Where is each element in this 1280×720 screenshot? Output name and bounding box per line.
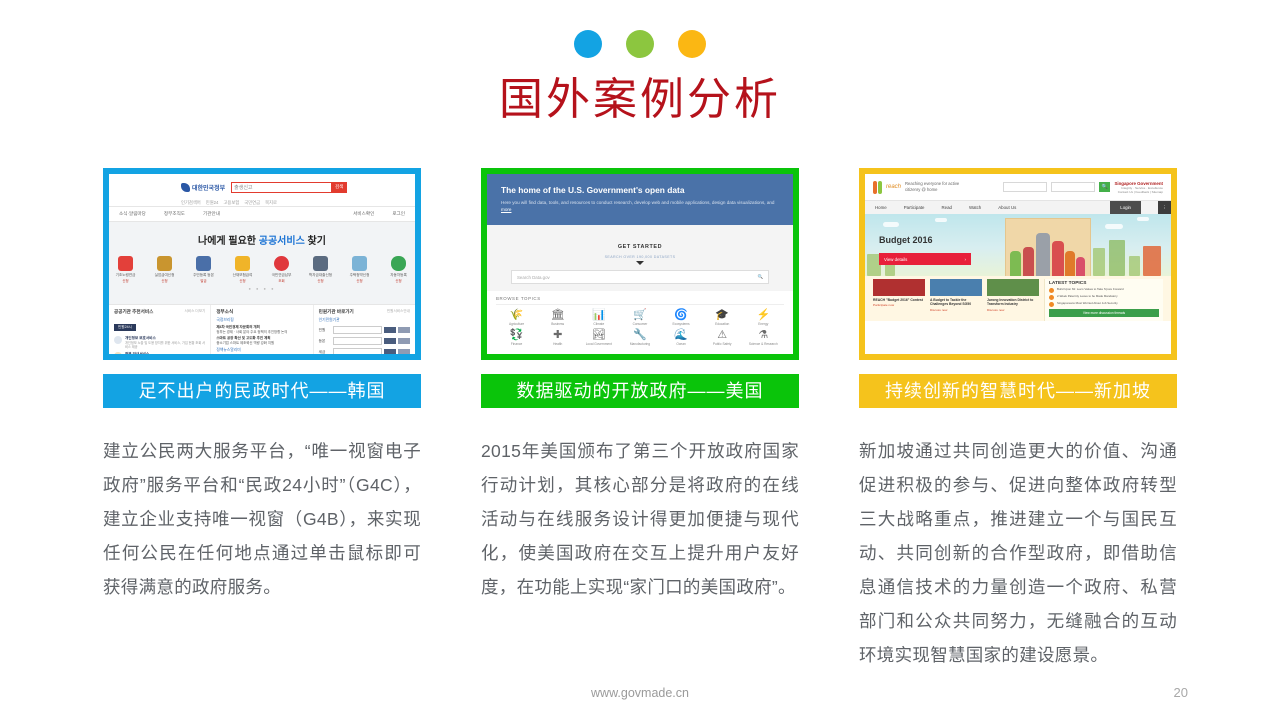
kr-panel-title: 공공기관 추천서비스 [114,309,153,315]
kr-service-item[interactable]: 실업급여신청 신청 [151,256,179,283]
kr-agency-apply-button[interactable] [384,327,396,333]
kr-panel-button[interactable]: 민원서비스안내 [387,309,410,315]
kr-news-desc: 중소기업 스마트 제조혁신 역량 강화 지원 [216,341,274,345]
ocean-icon: 🌊 [661,329,702,342]
local-government-icon: 🏞 [578,329,619,342]
us-topic-cell[interactable]: ⚠Public Safety [702,329,743,346]
consumer-icon: 🛒 [619,309,660,322]
kr-panel-more-link[interactable]: 서비스 더보기 [184,309,205,315]
datagov-mock: The home of the U.S. Government's open d… [487,174,793,354]
us-topic-label: Business [537,322,578,326]
sg-view-threads-button[interactable]: View more discussion threads [1049,309,1159,317]
kr-nav-item-right[interactable]: 서비스확인 [353,211,374,217]
sg-login-button[interactable]: Login [1110,201,1141,214]
us-search-placeholder: Search Data.gov [517,275,550,280]
sg-gov-sub: Integrity · Service · Excellence [1114,186,1163,190]
us-topic-label: Local Government [578,342,619,346]
kr-agency-view-button[interactable] [398,349,410,355]
slide: 国外案例分析 대한민국정부 검색 [0,0,1280,720]
kr-nav-item-right[interactable]: 로그인 [392,211,405,217]
more-menu-icon[interactable]: ⋮ [1158,201,1171,214]
chevron-right-icon: › [965,257,966,262]
sg-card-thumb [987,279,1039,296]
sg-nav-item-about[interactable]: About Us [998,205,1016,210]
sg-hero-title: Budget 2016 [879,235,933,245]
sg-latest-topics-panel: LATEST TOPICS Build Upon Mr. Lee's Value… [1044,279,1163,321]
us-topic-cell[interactable]: 📊Climate [578,309,619,326]
kr-service-action: 신청 [346,278,374,283]
list-item[interactable]: 정부 안내서비스 자격 · 정책 및 복지제도 안내와 각종 신청 방법을 한눈… [114,352,205,360]
us-topic-cell[interactable]: ⚡Energy [743,309,784,326]
bullet-icon [1049,288,1054,293]
sg-view-details-label: View details [884,257,907,262]
sg-latest-title: LATEST TOPICS [1049,281,1159,286]
us-topic-label: Consumer [619,322,660,326]
car-icon [391,256,406,271]
us-topics-panel: BROWSE TOPICS 🌾Agriculture 🏛Business 📊Cl… [487,291,793,355]
kr-agency-apply-button[interactable] [384,338,396,344]
list-item[interactable]: 개인정보 보호서비스 개인정보 노출 및 도용 방지를 위한 서비스, 가입 현… [114,336,205,349]
body-text-korea: 建立公民两大服务平台，“唯一视窗电子政府”服务平台和“民政24小时”（G4C），… [103,434,421,604]
kr-news-title: 청년 일자리대책 발표 [216,355,307,360]
kr-panel-title: 정부소식 [216,309,233,315]
helmet-icon [235,256,250,271]
avatar-icon [114,352,122,360]
kr-search-input[interactable] [231,182,331,193]
us-topic-label: Science & Research [743,342,784,346]
kr-nav-item[interactable]: 기관안내 [203,211,220,217]
us-topic-label: Agriculture [496,322,537,326]
screenshot-frame-singapore[interactable]: reach Reaching everyone for active citiz… [859,168,1177,360]
sg-tagline: Reaching everyone for active citizenry @… [905,181,967,193]
screenshot-frame-usa[interactable]: The home of the U.S. Government's open d… [481,168,799,360]
climate-icon: 📊 [578,309,619,322]
us-topic-label: Ocean [661,342,702,346]
coin-icon [274,256,289,271]
kr-news-subtitle: 정책뉴스알리미 [216,348,307,353]
list-item[interactable]: 2-Week Paternity Leave to be Made Mandat… [1049,295,1159,300]
chevron-down-icon [636,261,644,265]
briefcase-icon [157,256,172,271]
kr-agency-label: 민원 [319,328,331,333]
kr-panel-recommended: 공공기관 추천서비스 서비스 더보기 민원24시 개인정보 보호서비스 개인정보… [109,305,211,360]
kr-agency-select[interactable] [333,337,382,345]
kr-service-action: 신청 [307,278,335,283]
us-topic-label: Energy [743,322,784,326]
sg-cards-row: REACH "Budget 2016" Contest Participate … [865,276,1171,321]
us-topic-cell[interactable]: 🎓Education [702,309,743,326]
caption-korea: 足不出户的民政时代——韩国 [103,374,421,408]
kr-agency-select[interactable] [333,326,382,334]
us-topic-label: Education [702,322,743,326]
kr-item-text: 정부 안내서비스 자격 · 정책 및 복지제도 안내와 각종 신청 방법을 한눈… [125,352,205,360]
sg-card-title: A Budget to Tackle the Challenges Beyond… [930,298,982,307]
sg-search-input[interactable] [1003,182,1047,192]
kr-agency-label: 세금 [319,350,331,355]
us-topic-label: Climate [578,322,619,326]
sg-gov-title: Singapore Government [1114,181,1163,186]
sg-latest-item: 2-Week Paternity Leave to be Made Mandat… [1057,295,1118,299]
sg-header: reach Reaching everyone for active citiz… [865,174,1171,200]
sg-latest-item: Singaporeans Most Worried About Job Secu… [1057,302,1118,306]
us-browse-topics-label: BROWSE TOPICS [496,296,784,305]
sg-nav-item-participate[interactable]: Participate [904,205,925,210]
list-item[interactable]: Build Upon Mr. Lee's Values to Take S'po… [1049,288,1159,293]
us-paragraph-text: Here you will find data, tools, and reso… [501,200,775,205]
us-topic-cell[interactable]: 🔧Manufacturing [619,329,660,346]
agriculture-icon: 🌾 [496,309,537,322]
kr-hero-text-1: 나에게 필요한 [198,236,259,247]
us-paragraph: Here you will find data, tools, and reso… [501,199,779,213]
kr-service-action: 신청 [229,278,257,283]
us-get-started-label: GET STARTED [618,244,662,250]
kr-service-item[interactable]: 국민연금납부 조회 [268,256,296,283]
kr-service-item[interactable]: 산재보험급여 신청 [229,256,257,283]
kr-service-action: 조회 [268,278,296,283]
ecosystems-icon: 🌀 [661,309,702,322]
sg-card-link[interactable]: Discuss now [930,308,982,312]
kr-agency-view-button[interactable] [398,327,410,333]
avatar-icon [114,336,122,344]
energy-icon: ⚡ [743,309,784,322]
sg-card-thumb [873,279,925,296]
blue-dot [574,30,602,58]
kr-news-item[interactable]: 제4차 국민경제 자문회의 개최 정부는 경제 · 사회 분야 주요 정책의 추… [216,325,307,334]
case-columns: 대한민국정부 검색 인기검색어 민원24 고용보험 국민연금 복지로 [0,168,1280,672]
kr-item-desc: 개인정보 노출 및 도용 방지를 위한 서비스, 가입 현황 조회 서비스 제공 [125,341,205,349]
sg-card[interactable]: REACH "Budget 2016" Contest Participate … [873,279,925,321]
sg-card-title: Jurong Innovation District to Transform … [987,298,1039,307]
sg-family-illustration [1005,218,1091,276]
kr-nav-item[interactable]: 정부조직도 [164,211,185,217]
search-icon[interactable]: 🔍 [1099,182,1110,192]
page-number: 20 [1174,685,1188,700]
kr-group-label: 지역민원기관 [319,359,410,360]
sg-view-details-button[interactable]: View details › [879,253,971,265]
caption-usa: 数据驱动的开放政府——美国 [481,374,799,408]
kr-hero-text-3: 찾기 [305,236,326,247]
green-dot [626,30,654,58]
kr-group-label: 인기민원기관 [319,318,410,323]
sg-latest-item: Build Upon Mr. Lee's Values to Take S'po… [1057,288,1124,292]
body-text-singapore: 新加坡通过共同创造更大的价值、沟通促进积极的参与、促进向整体政府转型三大战略重点… [859,434,1177,672]
caption-singapore: 持续创新的智慧时代——新加坡 [859,374,1177,408]
kr-agency-label: 등본 [319,339,331,344]
us-topic-cell[interactable]: 🌾Agriculture [496,309,537,326]
kr-panel-header: 정부소식 [216,309,307,315]
kr-hero: 나에게 필요한 공공서비스 찾기 기초노령연금 신청 실업급여신청 [109,222,415,304]
us-topic-label: Health [537,342,578,346]
kr-logo: 대한민국정부 [181,183,225,192]
kr-news-item[interactable]: 청년 일자리대책 발표 청년 취업지원금 신설 및 중소기업 지원 확대 [216,355,307,360]
case-column-usa: The home of the U.S. Government's open d… [481,168,799,672]
health-icon: ✚ [537,329,578,342]
kr-service-item[interactable]: 주민등록 등본 발급 [190,256,218,283]
sg-brand: reach Reaching everyone for active citiz… [873,181,967,194]
sg-hero-block: Budget 2016 View details › [879,230,971,265]
kr-keyword[interactable]: 복지로 [265,200,277,206]
kr-service-action: 신청 [385,278,413,283]
body-text-usa: 2015年美国颁布了第三个开放政府国家行动计划，其核心部分是将政府的在线活动与在… [481,434,799,604]
us-hero: The home of the U.S. Government's open d… [487,174,793,225]
us-get-started-sub: SEARCH OVER 190,000 DATASETS [487,255,793,259]
us-topic-cell[interactable]: 🏛Business [537,309,578,326]
us-topic-cell[interactable]: 🛒Consumer [619,309,660,326]
korea-gov-portal-mock: 대한민국정부 검색 인기검색어 민원24 고용보험 국민연금 복지로 [109,174,415,354]
public-safety-icon: ⚠ [702,329,743,342]
kr-service-item[interactable]: 자동차등록 신청 [385,256,413,283]
sg-hero: Budget 2016 View details › [865,214,1171,276]
kr-nav: 소식·알림마당 정부조직도 기관안내 서비스확인 로그인 [109,206,415,222]
kr-service-item[interactable]: 주택청약신청 신청 [346,256,374,283]
us-topic-cell[interactable]: 🌀Ecosystems [661,309,702,326]
kr-agency-row: 세금 [319,348,410,356]
manufacturing-icon: 🔧 [619,329,660,342]
sg-nav: Home Participate Read Watch About Us Log… [865,200,1171,214]
kr-service-icon-row: 기초노령연금 신청 실업급여신청 신청 주민등록 등본 [109,256,415,283]
sg-nav-item-home[interactable]: Home [875,205,887,210]
kr-service-action: 신청 [151,278,179,283]
sg-gov-links[interactable]: Contact Us | Feedback | Sitemap [1114,190,1163,194]
sg-logo-text: reach [886,184,901,190]
kr-hero-heading: 나에게 필요한 공공서비스 찾기 [109,222,415,247]
kr-keyword[interactable]: 인기검색어 [181,200,201,206]
health-icon [118,256,133,271]
kr-hero-text-highlight: 공공서비스 [259,236,305,247]
kr-item-title: 정부 안내서비스 [125,352,205,357]
kr-agency-row: 민원 [319,326,410,334]
kr-header: 대한민국정부 검색 [109,174,415,200]
kr-keyword[interactable]: 국민연금 [244,200,260,206]
kr-item-desc: 자격 · 정책 및 복지제도 안내와 각종 신청 방법을 한눈에 확인 가능 [125,357,205,360]
business-icon: 🏛 [537,309,578,322]
screenshot-frame-korea[interactable]: 대한민국정부 검색 인기검색어 민원24 고용보험 국민연금 복지로 [103,168,421,360]
footer-url: www.govmade.cn [0,686,1280,700]
kr-panel-badge: 민원24시 [114,324,136,331]
reach-logo-icon [873,181,882,194]
kr-news-item[interactable]: 스마트 공장 확산 및 고도화 추진 계획 중소기업 스마트 제조혁신 역량 강… [216,336,307,345]
kr-service-item[interactable]: 기초노령연금 신청 [112,256,140,283]
sg-card-link[interactable]: Participate now [873,303,925,307]
kr-logo-mark-icon [181,183,190,192]
us-topic-label: Ecosystems [661,322,702,326]
sg-card[interactable]: A Budget to Tackle the Challenges Beyond… [930,279,982,321]
sg-header-right: 🔍 Singapore Government Integrity · Servi… [1003,181,1163,194]
sg-card-title: REACH "Budget 2016" Contest [873,298,925,302]
science-research-icon: ⚗ [743,329,784,342]
building-icon [196,256,211,271]
kr-logo-text: 대한민국정부 [192,183,225,192]
kr-panel-row: 공공기관 추천서비스 서비스 더보기 민원24시 개인정보 보호서비스 개인정보… [109,304,415,360]
sg-card-link[interactable]: Discuss now [987,308,1039,312]
bullet-icon [1049,295,1054,300]
kr-news-desc: 정부는 경제 · 사회 분야 주요 정책의 추진방향 논의 [216,330,287,334]
sg-nav-item-read[interactable]: Read [941,205,952,210]
search-icon[interactable]: 🔍 [758,274,763,280]
reach-sg-mock: reach Reaching everyone for active citiz… [865,174,1171,354]
case-column-korea: 대한민국정부 검색 인기검색어 민원24 고용보험 국민연금 복지로 [103,168,421,672]
kr-search-group[interactable]: 검색 [231,182,347,193]
kr-search-button[interactable]: 검색 [331,182,347,193]
us-topic-label: Public Safety [702,342,743,346]
sg-nav-item-watch[interactable]: Watch [969,205,981,210]
kr-carousel-dots[interactable]: ● ● ● ● [109,286,415,291]
kr-keyword[interactable]: 민원24 [206,200,219,206]
kr-panel-header: 공공기관 추천서비스 서비스 더보기 [114,309,205,315]
page-title: 国外案例分析 [0,63,1280,127]
kr-panel-news: 정부소식 국정브리핑 제4차 국민경제 자문회의 개최 정부는 경제 · 사회 … [211,305,313,360]
education-icon: 🎓 [702,309,743,322]
us-topic-cell[interactable]: 💱Finance [496,329,537,346]
kr-nav-item[interactable]: 소식·알림마당 [119,211,146,217]
kr-service-item[interactable]: 학자금대출신청 신청 [307,256,335,283]
sg-card[interactable]: Jurong Innovation District to Transform … [987,279,1039,321]
us-topic-cell[interactable]: 🏞Local Government [578,329,619,346]
kr-service-action: 신청 [112,278,140,283]
kr-agency-view-button[interactable] [398,338,410,344]
kr-news-subtitle: 국정브리핑 [216,318,307,323]
decorative-dot-row [0,30,1280,58]
kr-service-action: 발급 [190,278,218,283]
sg-gov-logo: Singapore Government Integrity · Service… [1114,181,1163,194]
case-column-singapore: reach Reaching everyone for active citiz… [859,168,1177,672]
us-topic-grid: 🌾Agriculture 🏛Business 📊Climate 🛒Consume… [496,309,784,349]
us-search-box[interactable]: Search Data.gov 🔍 [511,270,769,284]
kr-keyword[interactable]: 고용보험 [223,200,239,206]
us-topic-label: Manufacturing [619,342,660,346]
us-topic-cell[interactable]: ⚗Science & Research [743,329,784,346]
kr-panel-header: 민원기관 바로가기 민원서비스안내 [319,309,410,315]
kr-item-text: 개인정보 보호서비스 개인정보 노출 및 도용 방지를 위한 서비스, 가입 현… [125,336,205,349]
us-headline: The home of the U.S. Government's open d… [501,185,779,195]
list-item[interactable]: Singaporeans Most Worried About Job Secu… [1049,302,1159,307]
yellow-dot [678,30,706,58]
sg-search-filter-select[interactable] [1051,182,1095,192]
us-more-link[interactable]: more [501,207,511,212]
book-icon [313,256,328,271]
us-topic-cell[interactable]: ✚Health [537,329,578,346]
sg-card-thumb [930,279,982,296]
kr-agency-row: 등본 [319,337,410,345]
us-get-started: GET STARTED SEARCH OVER 190,000 DATASETS [487,235,793,265]
us-topic-label: Finance [496,342,537,346]
kr-agency-select[interactable] [333,348,382,356]
kr-agency-apply-button[interactable] [384,349,396,355]
kr-panel-title: 민원기관 바로가기 [319,309,354,315]
bullet-icon [1049,302,1054,307]
finance-icon: 💱 [496,329,537,342]
us-topic-cell[interactable]: 🌊Ocean [661,329,702,346]
kr-panel-agencies: 민원기관 바로가기 민원서비스안내 인기민원기관 민원 [314,305,415,360]
home-icon [352,256,367,271]
